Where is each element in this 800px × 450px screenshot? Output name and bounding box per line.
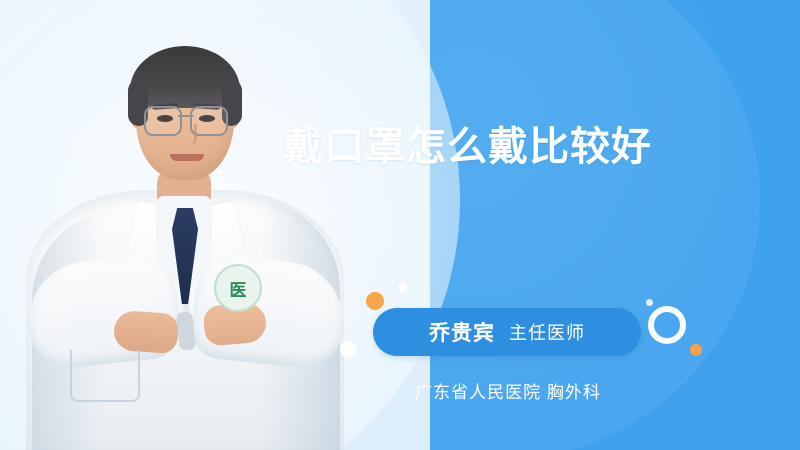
glasses-lens-left <box>144 106 182 136</box>
bottom-fade <box>0 330 800 450</box>
orange-dot-large <box>366 292 384 310</box>
doctor-mouth <box>170 154 204 161</box>
hospital-badge-icon: 医 <box>214 264 262 312</box>
page-title: 戴口罩怎么戴比较好 <box>283 118 743 176</box>
cover-card: 医 戴口罩怎么戴比较好 乔贵宾 主任医师 广东省人民医院 胸外科 <box>0 0 800 450</box>
doctor-nose <box>180 124 197 146</box>
white-dot-small <box>398 283 407 292</box>
white-dot-tiny <box>646 299 653 306</box>
